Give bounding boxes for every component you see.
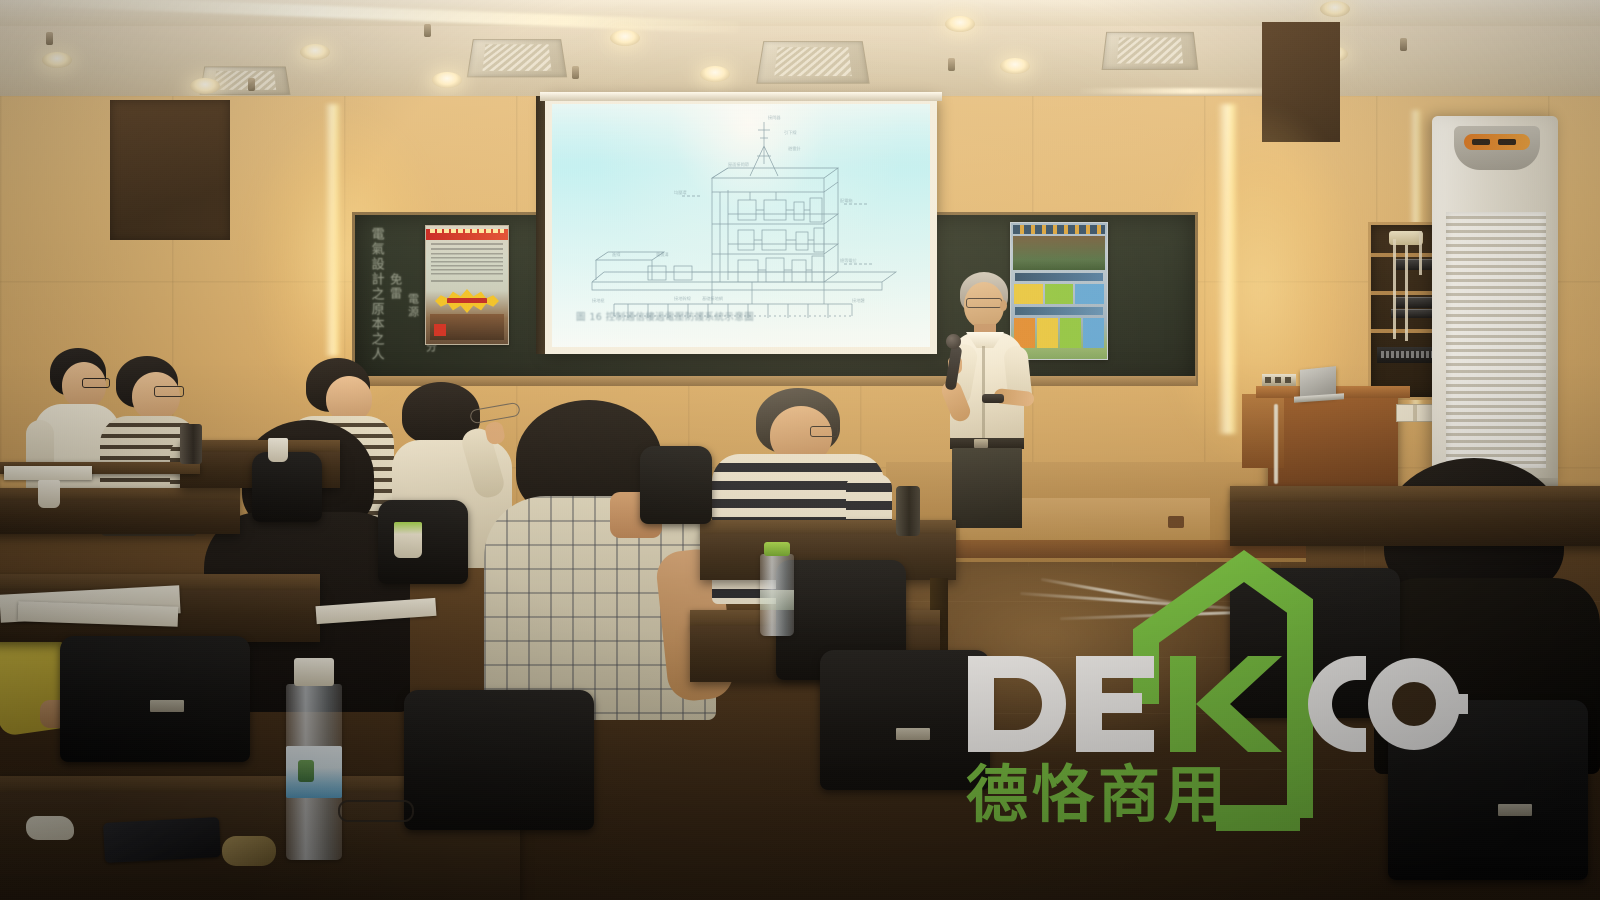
ceiling-air-vent bbox=[756, 41, 870, 84]
sprinkler-head bbox=[572, 66, 579, 79]
ceiling-downlight bbox=[42, 52, 72, 68]
sprinkler-head bbox=[1400, 38, 1407, 51]
svg-text:屋面接閃帶: 屋面接閃帶 bbox=[728, 161, 749, 168]
ceiling-downlight bbox=[190, 78, 220, 94]
speaker-belt-buckle bbox=[974, 439, 988, 448]
svg-text:均壓環: 均壓環 bbox=[674, 189, 687, 196]
lecture-room-photo: 電氣設計之原本之人 免雷 電源 專業分 bbox=[0, 0, 1600, 900]
ceiling-downlight bbox=[300, 44, 330, 60]
ceiling-air-vent bbox=[467, 39, 567, 77]
rack-cable bbox=[1393, 239, 1396, 339]
thermos-bottle bbox=[896, 486, 920, 536]
poster-starburst bbox=[435, 288, 499, 314]
smartphone bbox=[103, 817, 221, 863]
ceiling-downlight bbox=[610, 30, 640, 46]
glasses-icon bbox=[810, 426, 838, 437]
projection-screen-roller bbox=[540, 92, 942, 101]
chalkboard-writing: 電源 bbox=[407, 293, 419, 345]
chalkboard-writing: 免雷 bbox=[389, 273, 402, 333]
desk-front-left bbox=[0, 500, 240, 534]
paper-cup bbox=[38, 480, 60, 508]
rack-cable bbox=[1419, 231, 1422, 275]
svg-text:基礎接地網: 基礎接地網 bbox=[702, 295, 723, 302]
speaker-glasses bbox=[966, 298, 1002, 308]
ceiling-downlight bbox=[945, 16, 975, 32]
eyeglasses-on-desk bbox=[338, 800, 414, 822]
wall-light-strip-right bbox=[1218, 104, 1238, 434]
svg-text:總等電位: 總等電位 bbox=[840, 257, 857, 264]
speaker-shirt-placket bbox=[982, 346, 985, 438]
chair bbox=[640, 446, 712, 524]
desk-right bbox=[1230, 502, 1600, 546]
thermos-bottle bbox=[180, 424, 202, 464]
svg-text:引下線: 引下線 bbox=[784, 129, 797, 136]
svg-text:接地體: 接地體 bbox=[852, 297, 865, 304]
projection-screen: 接閃器 引下線 避雷針 均壓環 屋面接閃帶 配電箱 總等電位 進線 電纜溝 接地… bbox=[552, 104, 930, 347]
laser-pointer bbox=[982, 394, 1004, 403]
water-bottle-foreground bbox=[286, 684, 342, 860]
chair bbox=[1230, 568, 1400, 718]
chair bbox=[404, 690, 594, 830]
aircon-control-panel bbox=[1454, 126, 1540, 170]
ceiling-downlight bbox=[1000, 58, 1030, 74]
wall-light-strip-left bbox=[325, 104, 341, 356]
power-strip bbox=[1262, 374, 1296, 386]
bottle-label bbox=[760, 590, 794, 610]
wall-dark-panel-left bbox=[110, 100, 230, 240]
speaker-ear bbox=[1000, 300, 1007, 311]
tissue bbox=[26, 816, 74, 840]
travel-mug bbox=[394, 522, 422, 558]
glasses-icon bbox=[154, 386, 184, 397]
microphone-head bbox=[946, 334, 961, 349]
chair bbox=[60, 636, 250, 762]
water-bottle-center bbox=[760, 554, 794, 636]
ceiling-downlight bbox=[1320, 1, 1350, 17]
aircon-louvers bbox=[1446, 212, 1546, 468]
speaker-trousers bbox=[952, 448, 1022, 528]
svg-text:接地極: 接地極 bbox=[592, 297, 605, 304]
slide-caption: 圖 16 控制通信樓過電壓防護系統示意圖 bbox=[576, 309, 826, 323]
svg-text:配電箱: 配電箱 bbox=[840, 197, 853, 204]
chalkboard-writing: 電氣設計之原本之人 bbox=[369, 227, 383, 367]
svg-text:電纜溝: 電纜溝 bbox=[656, 251, 669, 258]
chair-label bbox=[1498, 804, 1532, 816]
bottle-cap bbox=[764, 542, 790, 556]
rack-cable bbox=[1405, 245, 1408, 341]
chair bbox=[252, 452, 322, 522]
keys bbox=[222, 836, 276, 866]
chair-label bbox=[896, 728, 930, 740]
bottle-label-mark bbox=[298, 760, 314, 782]
speaker-presenter bbox=[912, 272, 1042, 522]
sprinkler-head bbox=[424, 24, 431, 37]
ceiling-downlight bbox=[700, 66, 730, 82]
chair bbox=[820, 650, 990, 790]
svg-text:避雷針: 避雷針 bbox=[788, 145, 801, 152]
papers bbox=[4, 466, 92, 480]
ceiling-downlight bbox=[432, 72, 462, 88]
svg-text:接地幹線: 接地幹線 bbox=[674, 295, 692, 302]
sprinkler-head bbox=[46, 32, 53, 45]
poster-left-header bbox=[426, 229, 508, 240]
sprinkler-head bbox=[248, 78, 255, 91]
chair-label bbox=[150, 700, 184, 712]
podium-cable bbox=[1274, 404, 1278, 484]
paper-cup bbox=[268, 438, 288, 462]
floor-object bbox=[1168, 516, 1184, 528]
bottle-cap bbox=[294, 658, 334, 686]
bottle-label bbox=[286, 746, 342, 798]
poster-left bbox=[425, 225, 509, 345]
chair bbox=[378, 500, 468, 584]
ceiling-air-vent bbox=[1102, 32, 1199, 70]
svg-text:進線: 進線 bbox=[612, 251, 621, 258]
svg-text:接閃器: 接閃器 bbox=[768, 114, 781, 121]
air-conditioner bbox=[1432, 116, 1558, 486]
sprinkler-head bbox=[948, 58, 955, 71]
wall-dark-panel-right bbox=[1262, 22, 1340, 142]
chair bbox=[1388, 700, 1588, 880]
